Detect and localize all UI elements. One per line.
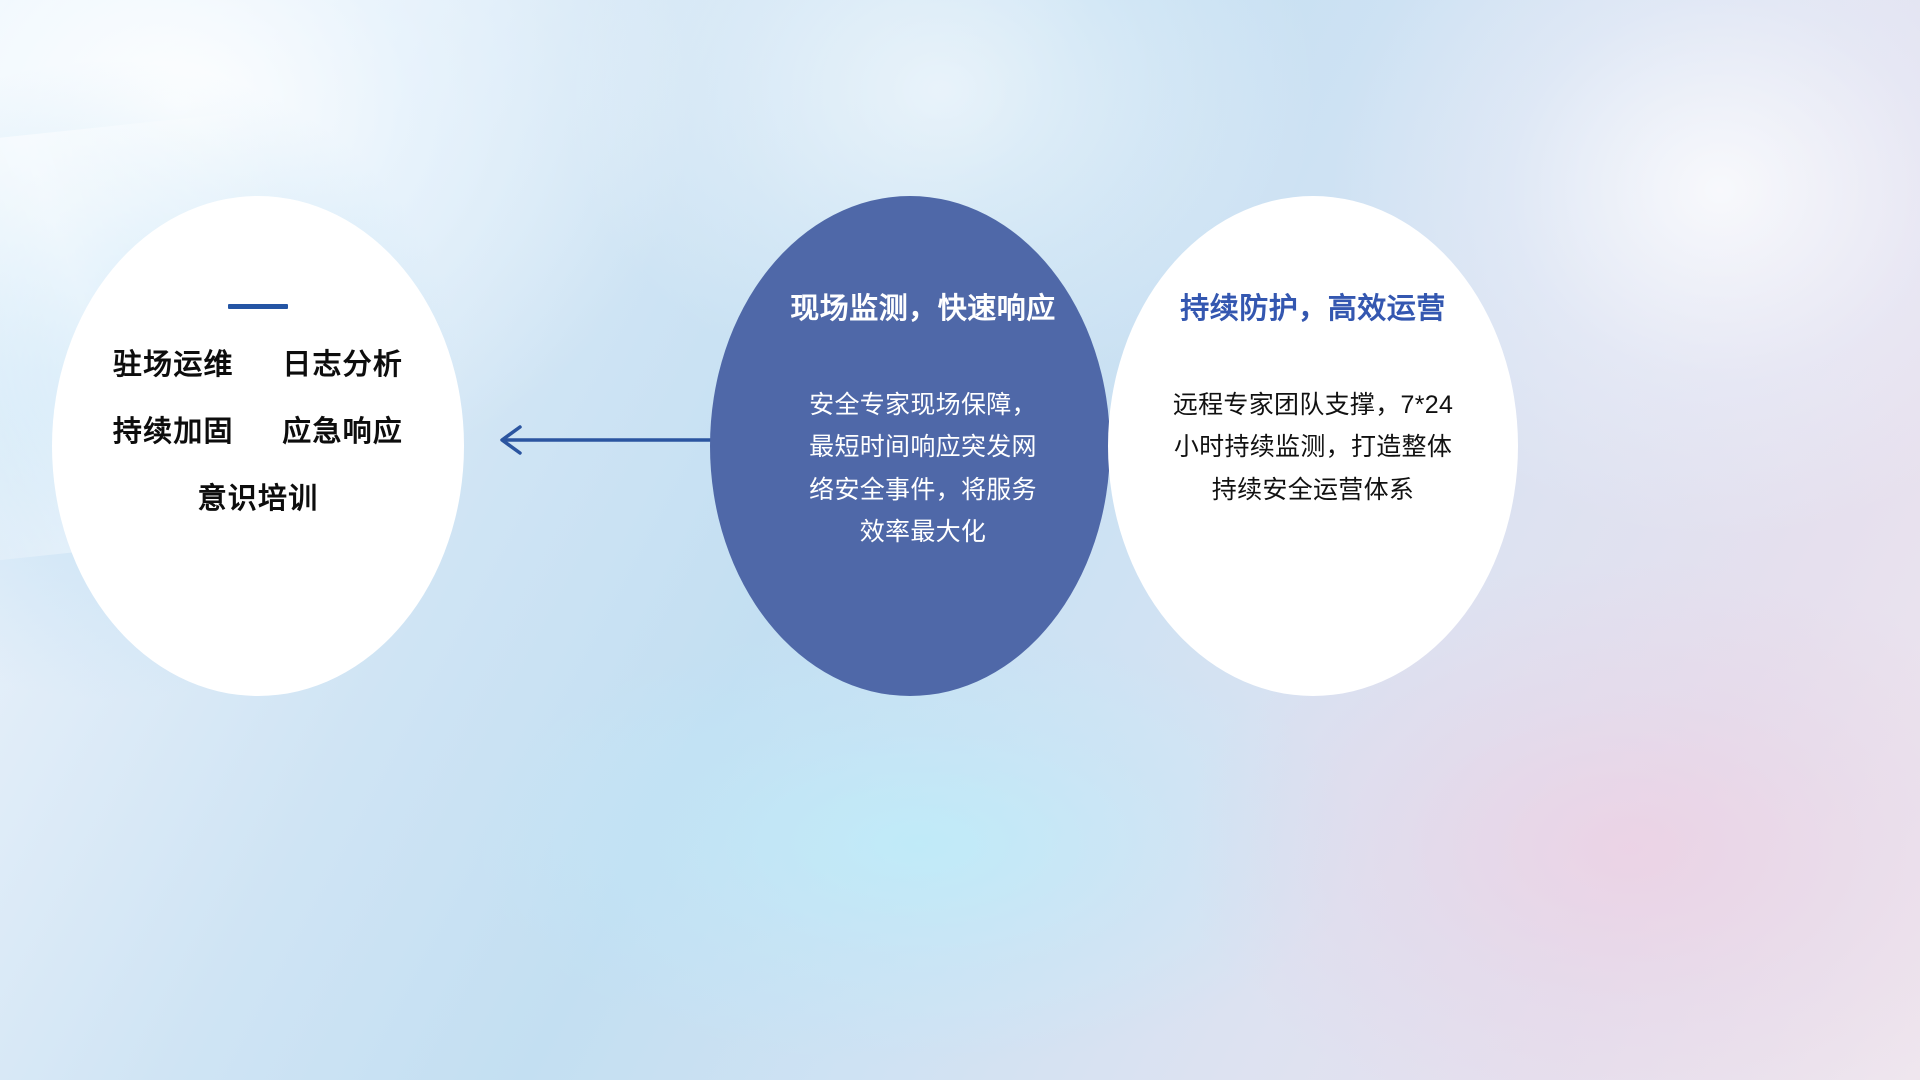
body-line: 效率最大化 bbox=[748, 511, 1098, 554]
right-circle-content: 持续防护，高效运营 远程专家团队支撑，7*24 小时持续监测，打造整体 持续安全… bbox=[1126, 294, 1500, 511]
right-circle-title: 持续防护，高效运营 bbox=[1126, 294, 1500, 326]
keyword-row: 驻场运维 日志分析 bbox=[52, 351, 464, 380]
slide-canvas: 驻场运维 日志分析 持续加固 应急响应 意识培训 现场监测，快速响应 安全专家现… bbox=[0, 0, 1920, 1080]
body-line: 安全专家现场保障， bbox=[748, 384, 1098, 427]
flow-arrow-left-icon bbox=[484, 410, 724, 470]
right-circle-body: 远程专家团队支撑，7*24 小时持续监测，打造整体 持续安全运营体系 bbox=[1126, 384, 1500, 512]
keyword-row: 持续加固 应急响应 bbox=[52, 418, 464, 447]
body-line: 络安全事件，将服务 bbox=[748, 469, 1098, 512]
keyword-label: 应急响应 bbox=[282, 416, 403, 448]
body-line: 持续安全运营体系 bbox=[1126, 469, 1500, 512]
left-capability-circle[interactable]: 驻场运维 日志分析 持续加固 应急响应 意识培训 bbox=[52, 196, 464, 696]
middle-onsite-monitoring-circle[interactable]: 现场监测，快速响应 安全专家现场保障， 最短时间响应突发网 络安全事件，将服务 … bbox=[710, 196, 1110, 696]
middle-circle-title: 现场监测，快速响应 bbox=[748, 294, 1098, 326]
blue-divider-dash bbox=[228, 304, 288, 309]
right-continuous-protection-circle[interactable]: 持续防护，高效运营 远程专家团队支撑，7*24 小时持续监测，打造整体 持续安全… bbox=[1108, 196, 1518, 696]
middle-circle-content: 现场监测，快速响应 安全专家现场保障， 最短时间响应突发网 络安全事件，将服务 … bbox=[748, 294, 1098, 554]
left-circle-content: 驻场运维 日志分析 持续加固 应急响应 意识培训 bbox=[52, 304, 464, 514]
keyword-label: 日志分析 bbox=[282, 349, 403, 381]
body-line: 远程专家团队支撑，7*24 bbox=[1126, 384, 1500, 427]
keyword-label: 驻场运维 bbox=[113, 349, 234, 381]
middle-circle-body: 安全专家现场保障， 最短时间响应突发网 络安全事件，将服务 效率最大化 bbox=[748, 384, 1098, 554]
keyword-label: 意识培训 bbox=[198, 483, 319, 515]
keyword-label: 持续加固 bbox=[113, 416, 234, 448]
body-line: 小时持续监测，打造整体 bbox=[1126, 426, 1500, 469]
keyword-row: 意识培训 bbox=[52, 485, 464, 514]
body-line: 最短时间响应突发网 bbox=[748, 426, 1098, 469]
